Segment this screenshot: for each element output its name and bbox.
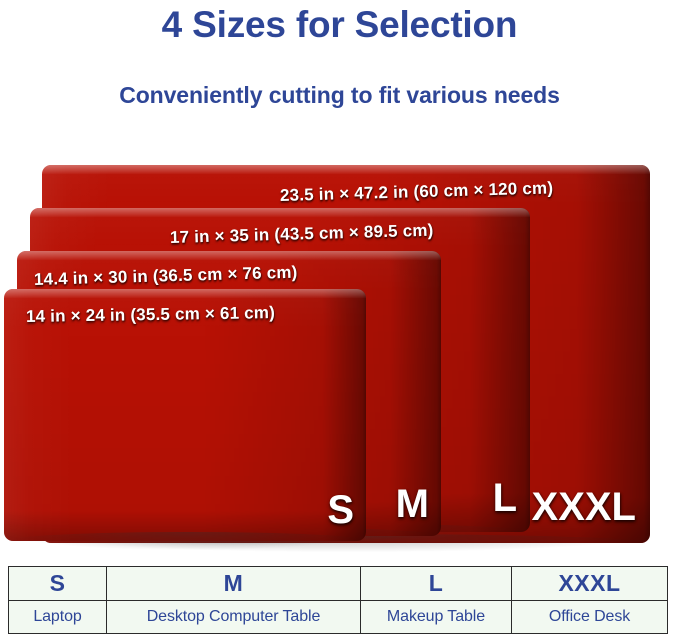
table-cell-use-l: Makeup Table: [361, 601, 512, 634]
page-subtitle: Conveniently cutting to fit various need…: [0, 82, 679, 109]
page-title: 4 Sizes for Selection: [0, 4, 679, 46]
table-row-size-uses: Laptop Desktop Computer Table Makeup Tab…: [9, 601, 668, 634]
mat-s-top-lip: [4, 289, 366, 298]
mat-xxxl-size-letter: XXXL: [532, 487, 636, 527]
table-cell-code-l: L: [361, 567, 512, 601]
mat-s-face: [4, 289, 366, 541]
mat-m-size-letter: M: [396, 484, 429, 524]
mat-stack-illustration: 23.5 in × 47.2 in (60 cm × 120 cm) XXXL …: [0, 150, 679, 560]
size-comparison-table: S M L XXXL Laptop Desktop Computer Table…: [8, 566, 668, 634]
table-cell-code-s: S: [9, 567, 107, 601]
mat-m-top-lip: [17, 251, 441, 260]
table-cell-use-s: Laptop: [9, 601, 107, 634]
mat-xxxl-top-lip: [42, 165, 650, 174]
mat-l-top-lip: [30, 208, 530, 217]
mat-s: 14 in × 24 in (35.5 cm × 61 cm) S: [4, 289, 366, 541]
table-cell-use-m: Desktop Computer Table: [107, 601, 361, 634]
table-row-size-codes: S M L XXXL: [9, 567, 668, 601]
table-cell-code-m: M: [107, 567, 361, 601]
mat-l-size-letter: L: [493, 478, 517, 518]
table-cell-code-xxxl: XXXL: [512, 567, 668, 601]
mat-s-size-letter: S: [327, 490, 354, 530]
mat-s-dimension-label: 14 in × 24 in (35.5 cm × 61 cm): [26, 303, 275, 327]
product-size-infographic: 4 Sizes for Selection Conveniently cutti…: [0, 0, 679, 644]
table-cell-use-xxxl: Office Desk: [512, 601, 668, 634]
